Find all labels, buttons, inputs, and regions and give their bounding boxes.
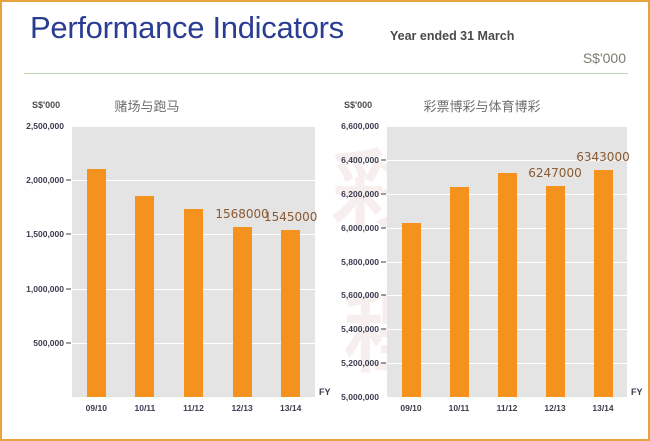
gridline	[387, 126, 627, 127]
y-axis-tick-label: 5,600,000	[332, 290, 379, 300]
x-axis-tick-label: 13/14	[579, 403, 627, 413]
chart-title: 赌场与跑马	[32, 96, 262, 115]
y-axis-tick-label: 5,200,000	[332, 358, 379, 368]
x-axis-tick-label: 09/10	[72, 403, 121, 413]
y-axis-tick-mark	[381, 159, 386, 160]
bar[interactable]	[87, 169, 106, 397]
bar[interactable]	[450, 187, 469, 397]
y-axis-tick-mark	[381, 193, 386, 194]
y-axis-tick-mark	[66, 234, 71, 235]
x-axis-tick-label: 11/12	[483, 403, 531, 413]
y-axis-tick-label: 5,400,000	[332, 324, 379, 334]
plot-area	[72, 126, 315, 397]
page-header: Performance Indicators Year ended 31 Mar…	[2, 2, 648, 72]
y-axis-tick-label: 2,500,000	[10, 121, 64, 131]
bar[interactable]	[402, 223, 421, 397]
x-axis-tick-label: 11/12	[169, 403, 218, 413]
bar[interactable]	[281, 230, 300, 397]
bar-value-label: 6343000	[563, 150, 643, 164]
page-title: Performance Indicators	[30, 10, 344, 46]
y-axis-tick-mark	[381, 227, 386, 228]
chart-title: 彩票博彩与体育博彩	[362, 96, 602, 115]
y-axis-tick-label: 6,600,000	[332, 121, 379, 131]
y-axis-tick-mark	[66, 288, 71, 289]
bar[interactable]	[135, 196, 154, 397]
x-axis-tick-label: 10/11	[121, 403, 170, 413]
y-axis-tick-label: 2,000,000	[10, 175, 64, 185]
chart-casino-horse-racing: S$'000 赌场与跑马 500,0001,000,0001,500,0002,…	[10, 90, 330, 430]
bar[interactable]	[184, 209, 203, 397]
gridline	[72, 126, 315, 127]
y-axis-tick-mark	[66, 180, 71, 181]
y-axis-tick-label: 6,400,000	[332, 155, 379, 165]
y-axis-tick-mark	[381, 329, 386, 330]
chart-lottery-sports-betting: S$'000 彩票博彩与体育博彩 5,000,0005,200,0005,400…	[332, 90, 648, 430]
y-axis-tick-label: 6,200,000	[332, 189, 379, 199]
y-axis-tick-label: 5,000,000	[332, 392, 379, 402]
performance-indicators-page: Performance Indicators Year ended 31 Mar…	[0, 0, 650, 441]
header-units-label: S$'000	[583, 50, 626, 66]
y-axis-tick-label: 1,000,000	[10, 284, 64, 294]
y-axis-tick-label: 1,500,000	[10, 229, 64, 239]
y-axis-tick-mark	[66, 342, 71, 343]
y-axis-tick-mark	[381, 363, 386, 364]
y-axis-tick-mark	[381, 261, 386, 262]
x-axis-tick-label: 12/13	[531, 403, 579, 413]
x-axis-tick-label: 13/14	[266, 403, 315, 413]
y-axis-tick-label: 5,800,000	[332, 257, 379, 267]
bar-value-label: 6247000	[515, 166, 595, 180]
bar[interactable]	[594, 170, 613, 397]
x-axis-tick-label: 09/10	[387, 403, 435, 413]
x-axis-tick-label: 10/11	[435, 403, 483, 413]
y-axis-tick-label: 6,000,000	[332, 223, 379, 233]
y-axis-tick-label: 500,000	[10, 338, 64, 348]
x-axis-name: FY	[319, 387, 331, 397]
x-axis-tick-label: 12/13	[218, 403, 267, 413]
page-subtitle: Year ended 31 March	[390, 29, 514, 43]
bar[interactable]	[546, 186, 565, 397]
bar[interactable]	[498, 173, 517, 397]
x-axis-name: FY	[631, 387, 643, 397]
bar[interactable]	[233, 227, 252, 397]
gridline	[72, 180, 315, 181]
bar-value-label: 1545000	[251, 210, 331, 224]
header-divider	[24, 73, 628, 74]
y-axis-tick-mark	[381, 295, 386, 296]
